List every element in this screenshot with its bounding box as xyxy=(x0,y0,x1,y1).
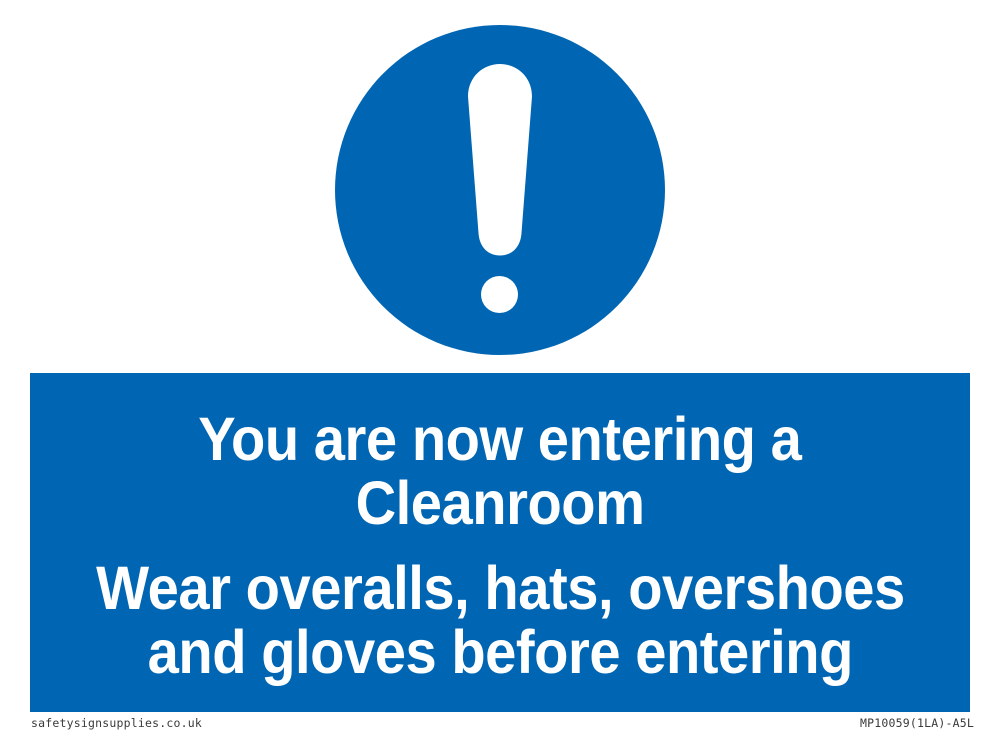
exclamation-mark-icon xyxy=(335,25,665,355)
product-code: MP10059(1LA)-A5L xyxy=(860,716,974,730)
supplier-website: safetysignsupplies.co.uk xyxy=(31,716,202,730)
sign-message-panel: You are now entering a Cleanroom Wear ov… xyxy=(30,373,970,712)
sign-message-line-2: Cleanroom xyxy=(356,472,645,534)
sign-message-line-4: and gloves before entering xyxy=(147,621,852,683)
footer: safetysignsupplies.co.uk MP10059(1LA)-A5… xyxy=(0,716,1000,749)
sign-message-line-1: You are now entering a xyxy=(198,408,801,470)
exclamation-dot xyxy=(481,276,518,313)
mandatory-sign-pictogram xyxy=(335,25,665,355)
sign-message-line-3: Wear overalls, hats, overshoes xyxy=(96,557,905,619)
